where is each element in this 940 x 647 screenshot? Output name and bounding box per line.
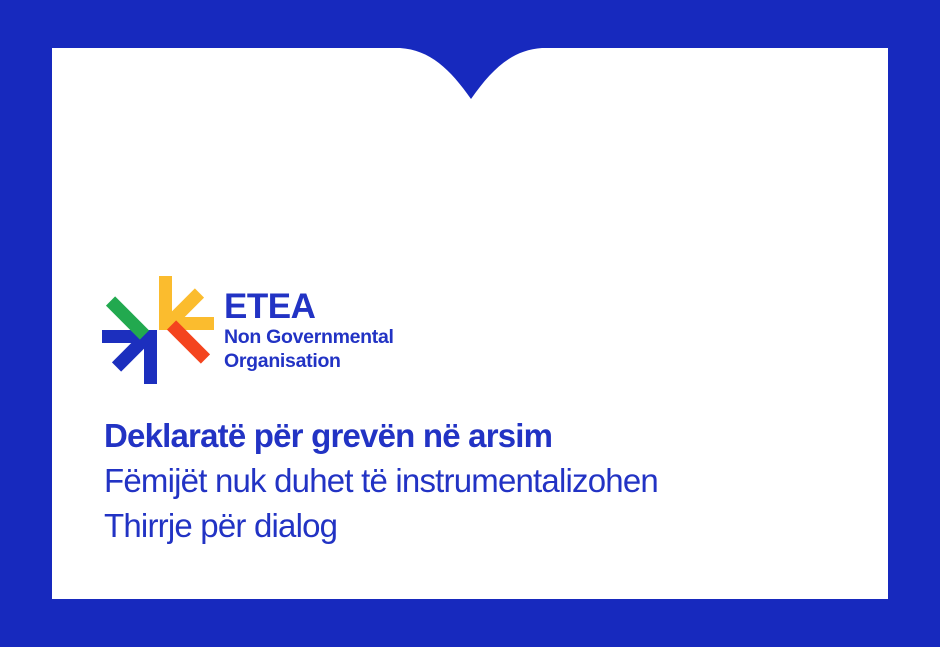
logo-subtitle-line-2: Organisation xyxy=(224,350,394,374)
logo-title: ETEA xyxy=(224,290,394,324)
logo-subtitle: Non Governmental Organisation xyxy=(224,326,394,374)
poster-canvas: ETEA Non Governmental Organisation Dekla… xyxy=(0,0,940,647)
headline-block: Deklaratë për grevën në arsim Fëmijët nu… xyxy=(104,414,884,548)
etea-starburst-arrows-mark xyxy=(102,274,214,386)
headline-tertiary: Thirrje për dialog xyxy=(104,503,884,548)
headline-secondary: Fëmijët nuk duhet të instrumentalizohen xyxy=(104,458,884,503)
headline-primary: Deklaratë për grevën në arsim xyxy=(104,414,884,458)
etea-logo: ETEA Non Governmental Organisation xyxy=(102,274,394,386)
logo-subtitle-line-1: Non Governmental xyxy=(224,326,394,350)
etea-wordmark: ETEA Non Governmental Organisation xyxy=(224,286,394,375)
